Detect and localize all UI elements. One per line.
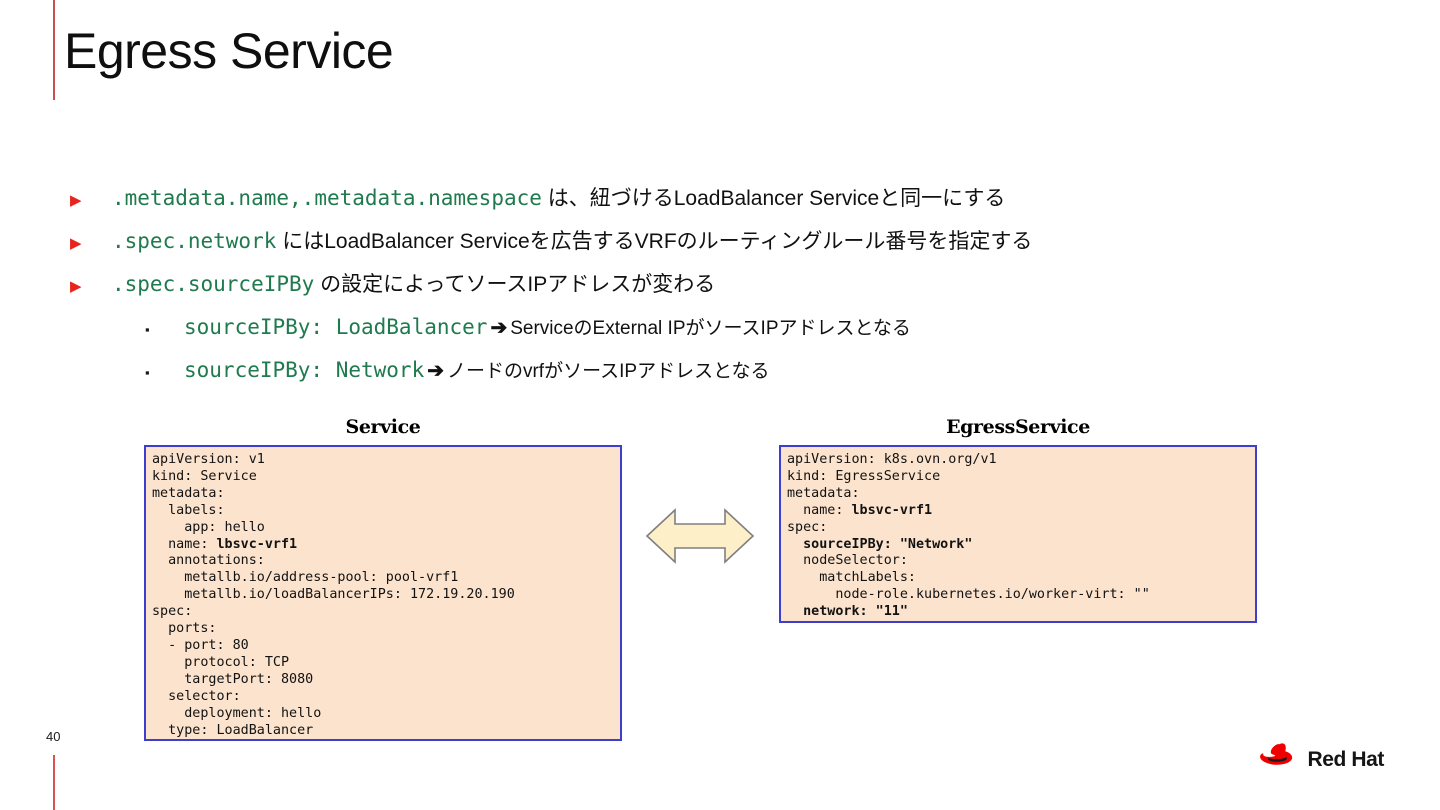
bullet-segment-jp: ServiceのExternal IPがソースIPアドレスとなる [510,318,911,339]
egressservice-panel-caption: EgressService [779,416,1257,438]
triangle-right-bullet-icon: ▶ [64,267,112,307]
yaml-line-emphasis: sourceIPBy: "Network" [803,537,972,552]
yaml-line: selector: [152,689,614,706]
yaml-line: kind: EgressService [787,469,1249,486]
yaml-line: matchLabels: [787,570,1249,587]
bullet-segment-code: sourceIPBy: Network [184,358,424,382]
bullet-segment-code: , [289,186,302,210]
yaml-line: name: lbsvc-vrf1 [787,503,1249,520]
bullet-text: .metadata.name,.metadata.namespace は、紐づけ… [112,178,1384,221]
yaml-line: network: "11" [787,604,1249,621]
yaml-line: name: lbsvc-vrf1 [152,537,614,554]
yaml-line: type: LoadBalancer [152,723,614,740]
yaml-line-emphasis: lbsvc-vrf1 [852,503,933,518]
yaml-line: spec: [152,604,614,621]
page-title: Egress Service [64,20,393,82]
double-headed-arrow-icon [644,506,756,566]
yaml-line-emphasis: lbsvc-vrf1 [217,537,298,552]
bullet-text: sourceIPBy: LoadBalancer➔ServiceのExterna… [184,307,1384,350]
yaml-line: ports: [152,621,614,638]
yaml-line: labels: [152,503,614,520]
yaml-line: metadata: [787,486,1249,503]
yaml-line: - port: 80 [152,638,614,655]
bullet-segment-code: .metadata.name [112,186,289,210]
yaml-line: apiVersion: k8s.ovn.org/v1 [787,452,1249,469]
bullet-segment-jp: の設定によってソースIPアドレスが変わる [314,273,715,296]
red-hat-wordmark: Red Hat [1307,748,1384,772]
bullet-list: ▶.metadata.name,.metadata.namespace は、紐づ… [64,178,1384,393]
bullet-text: .spec.sourceIPBy の設定によってソースIPアドレスが変わる [112,264,1384,307]
yaml-line: app: hello [152,520,614,537]
yaml-line: annotations: [152,553,614,570]
red-hat-logo: Red Hat [1259,742,1384,777]
yaml-line: spec: [787,520,1249,537]
footer-accent-bar [53,755,55,810]
bullet-segment-code: .metadata.namespace [302,186,542,210]
bullet-segment-code: .spec.sourceIPBy [112,272,314,296]
service-yaml-code: apiVersion: v1kind: Servicemetadata: lab… [144,445,622,741]
bullet-item: ▶.metadata.name,.metadata.namespace は、紐づ… [64,178,1384,221]
yaml-line: kind: Service [152,469,614,486]
egressservice-yaml-code: apiVersion: k8s.ovn.org/v1kind: EgressSe… [779,445,1257,623]
bullet-item: ▪sourceIPBy: LoadBalancer➔ServiceのExtern… [64,307,1384,350]
triangle-right-bullet-icon: ▶ [64,181,112,221]
bullet-text: sourceIPBy: Network➔ノードのvrfがソースIPアドレスとなる [184,350,1384,393]
bullet-item: ▶.spec.sourceIPBy の設定によってソースIPアドレスが変わる [64,264,1384,307]
bullet-segment-arrow: ➔ [424,360,447,382]
title-accent-bar [53,0,55,100]
yaml-line-plain [787,537,803,552]
bullet-segment-jp: にはLoadBalancer Serviceを広告するVRFのルーティングルール… [276,230,1032,253]
bullet-segment-code: .spec.network [112,229,276,253]
yaml-line-plain [787,604,803,619]
yaml-line-emphasis: network: "11" [803,604,908,619]
bullet-item: ▶.spec.network にはLoadBalancer Serviceを広告… [64,221,1384,264]
yaml-line: targetPort: 8080 [152,672,614,689]
square-bullet-icon: ▪ [136,310,184,350]
bullet-segment-code: sourceIPBy: LoadBalancer [184,315,487,339]
egressservice-yaml-panel: EgressService apiVersion: k8s.ovn.org/v1… [779,416,1257,623]
yaml-line-plain: name: [787,503,852,518]
yaml-line: metadata: [152,486,614,503]
yaml-line: apiVersion: v1 [152,452,614,469]
yaml-line: node-role.kubernetes.io/worker-virt: "" [787,587,1249,604]
service-panel-caption: Service [144,416,622,438]
square-bullet-icon: ▪ [136,353,184,393]
bullet-segment-jp: は、紐づけるLoadBalancer Serviceと同一にする [542,187,1006,210]
yaml-line: metallb.io/address-pool: pool-vrf1 [152,570,614,587]
yaml-line: nodeSelector: [787,553,1249,570]
yaml-line: metallb.io/loadBalancerIPs: 172.19.20.19… [152,587,614,604]
triangle-right-bullet-icon: ▶ [64,224,112,264]
yaml-line: deployment: hello [152,706,614,723]
bullet-item: ▪sourceIPBy: Network➔ノードのvrfがソースIPアドレスとな… [64,350,1384,393]
page-number: 40 [46,729,60,744]
bullet-segment-jp: ノードのvrfがソースIPアドレスとなる [447,361,770,382]
yaml-line-plain: name: [152,537,217,552]
red-hat-hat-icon [1259,742,1299,777]
yaml-line: sourceIPBy: "Network" [787,537,1249,554]
bullet-segment-arrow: ➔ [487,317,510,339]
bullet-text: .spec.network にはLoadBalancer Serviceを広告す… [112,221,1384,264]
yaml-line: protocol: TCP [152,655,614,672]
service-yaml-panel: Service apiVersion: v1kind: Servicemetad… [144,416,622,741]
